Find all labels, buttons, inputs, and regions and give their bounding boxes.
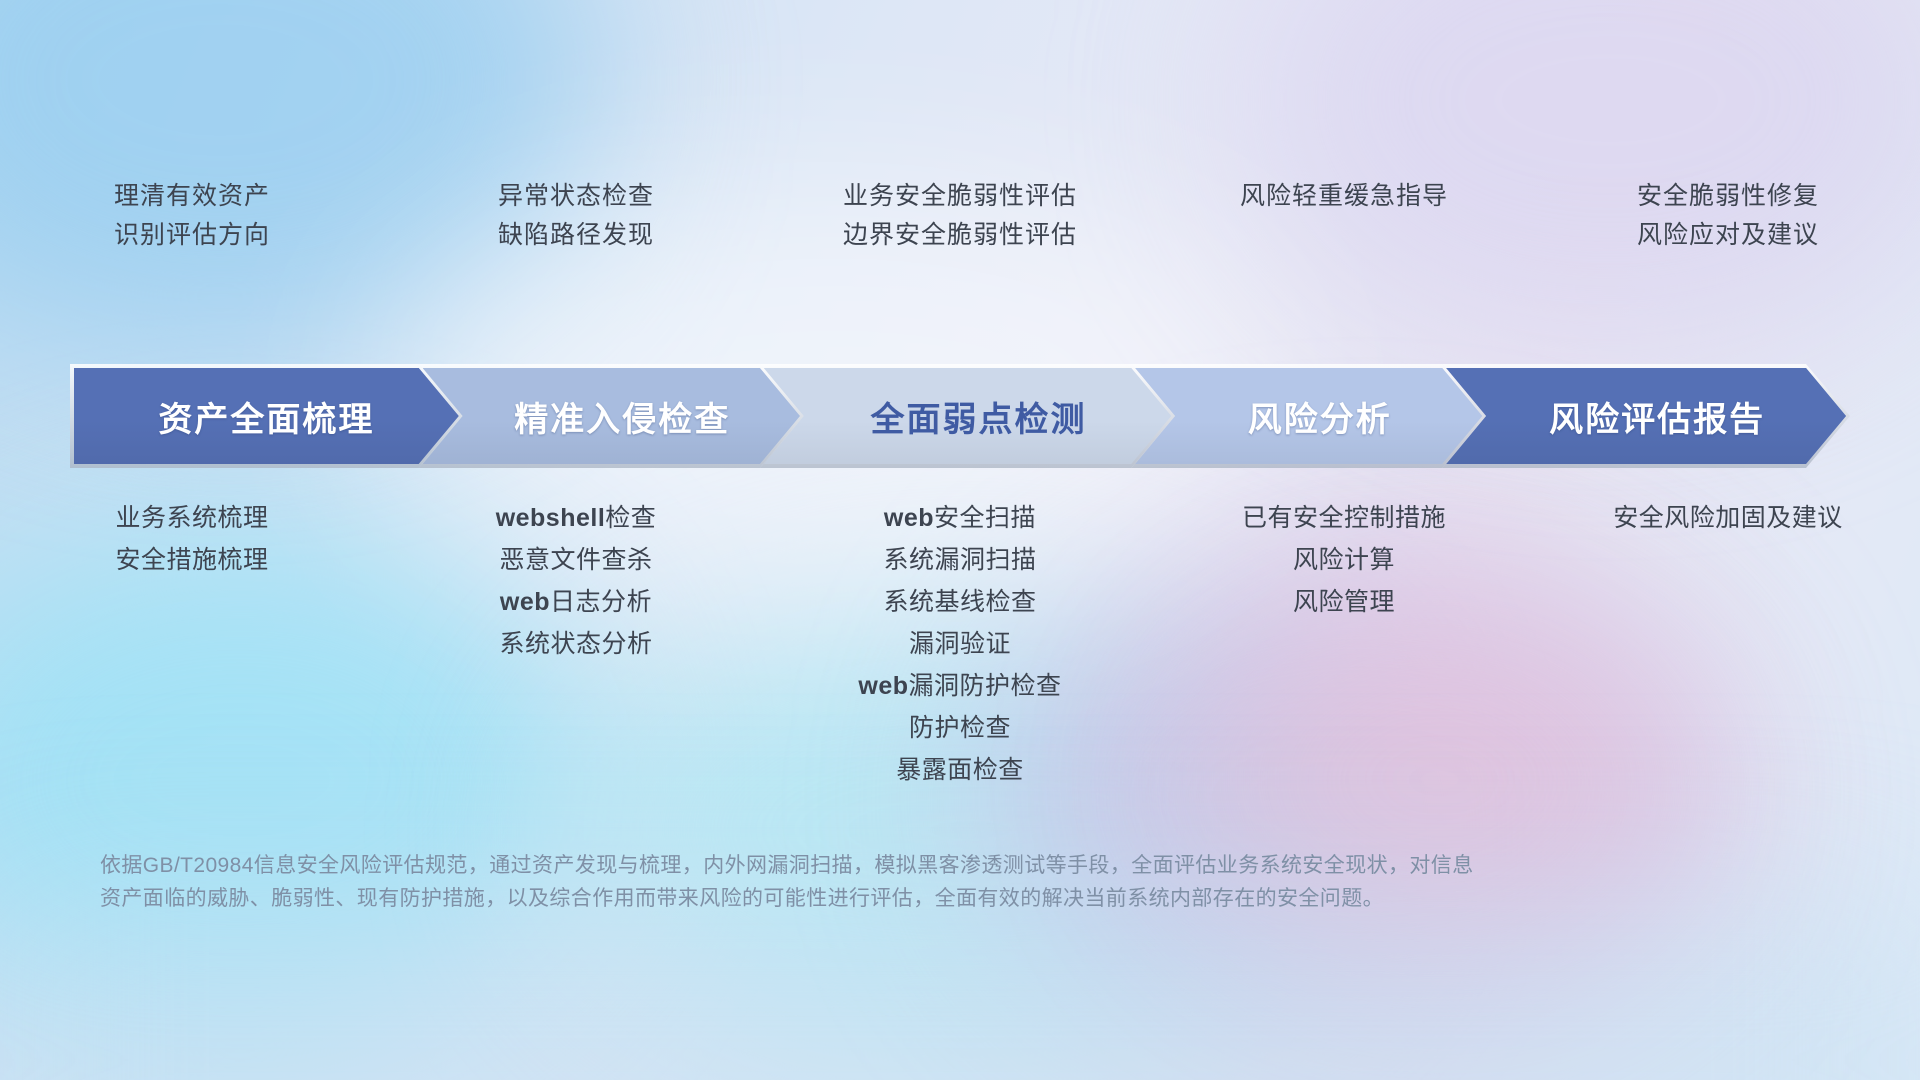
chevron-stage-1[interactable]: 资产全面梳理 xyxy=(74,368,459,464)
footer-description: 依据GB/T20984信息安全风险评估规范，通过资产发现与梳理，内外网漏洞扫描，… xyxy=(100,850,1820,915)
top-labels-stage-5: 安全脆弱性修复 风险应对及建议 xyxy=(1536,184,1920,294)
chevron-label: 全面弱点检测 xyxy=(849,392,1087,441)
bottom-list-item: 系统状态分析 xyxy=(499,632,652,657)
bottom-list-stage-3: web安全扫描系统漏洞扫描系统基线检查漏洞验证web漏洞防护检查防护检查暴露面检… xyxy=(768,506,1152,806)
bottom-list-item: web漏洞防护检查 xyxy=(858,674,1061,699)
top-label: 安全脆弱性修复 xyxy=(1637,184,1819,209)
bottom-list-item: 安全风险加固及建议 xyxy=(1613,506,1843,531)
top-label: 异常状态检查 xyxy=(498,184,654,209)
chevron-label: 风险评估报告 xyxy=(1527,392,1765,441)
bottom-list-stage-2: webshell检查恶意文件查杀web日志分析系统状态分析 xyxy=(384,506,768,806)
bottom-list-item: 防护检查 xyxy=(909,716,1011,741)
bottom-list-item: web日志分析 xyxy=(500,590,652,615)
footer-line-1: 依据GB/T20984信息安全风险评估规范，通过资产发现与梳理，内外网漏洞扫描，… xyxy=(100,850,1820,883)
top-labels-stage-1: 理清有效资产 识别评估方向 xyxy=(0,184,384,294)
bottom-list-item: 风险计算 xyxy=(1293,548,1395,573)
bottom-list-item: 已有安全控制措施 xyxy=(1242,506,1446,531)
top-label: 业务安全脆弱性评估 xyxy=(843,184,1077,209)
bottom-list-item: 系统漏洞扫描 xyxy=(883,548,1036,573)
top-label: 缺陷路径发现 xyxy=(498,223,654,248)
bottom-list-item: web安全扫描 xyxy=(884,506,1036,531)
bottom-list-item: 暴露面检查 xyxy=(896,758,1024,783)
bottom-list-stage-5: 安全风险加固及建议 xyxy=(1536,506,1920,806)
top-label: 风险应对及建议 xyxy=(1637,223,1819,248)
chevron-label: 精准入侵检查 xyxy=(492,392,730,441)
process-diagram: 理清有效资产 识别评估方向 异常状态检查 缺陷路径发现 业务安全脆弱性评估 边界… xyxy=(0,0,1920,1080)
bottom-list-item: 安全措施梳理 xyxy=(115,548,268,573)
bottom-list-item: 业务系统梳理 xyxy=(115,506,268,531)
bottom-list-item: 风险管理 xyxy=(1293,590,1395,615)
chevron-stage-4[interactable]: 风险分析 xyxy=(1135,368,1482,464)
chevron-stage-2[interactable]: 精准入侵检查 xyxy=(423,368,800,464)
bottom-list-item: 系统基线检查 xyxy=(883,590,1036,615)
bottom-list-item: 漏洞验证 xyxy=(909,632,1011,657)
chevron-stage-3[interactable]: 全面弱点检测 xyxy=(764,368,1171,464)
chevron-label: 风险分析 xyxy=(1226,392,1392,441)
chevron-stage-5[interactable]: 风险评估报告 xyxy=(1446,368,1846,464)
bottom-list-item: webshell检查 xyxy=(496,506,657,531)
bottom-lists-row: 业务系统梳理安全措施梳理 webshell检查恶意文件查杀web日志分析系统状态… xyxy=(0,506,1920,806)
top-label: 理清有效资产 xyxy=(114,184,270,209)
chevron-label: 资产全面梳理 xyxy=(158,392,374,441)
top-labels-stage-4: 风险轻重缓急指导 xyxy=(1152,184,1536,294)
top-labels-stage-2: 异常状态检查 缺陷路径发现 xyxy=(384,184,768,294)
footer-line-2: 资产面临的威胁、脆弱性、现有防护措施，以及综合作用而带来风险的可能性进行评估，全… xyxy=(100,883,1820,916)
bottom-list-item: 恶意文件查杀 xyxy=(499,548,652,573)
top-labels-stage-3: 业务安全脆弱性评估 边界安全脆弱性评估 xyxy=(768,184,1152,294)
top-label: 边界安全脆弱性评估 xyxy=(843,223,1077,248)
top-label: 识别评估方向 xyxy=(114,223,270,248)
chevron-band: 资产全面梳理 精准入侵检查 全面弱点检测 风险分析 风险评估报告 xyxy=(74,368,1846,464)
top-labels-row: 理清有效资产 识别评估方向 异常状态检查 缺陷路径发现 业务安全脆弱性评估 边界… xyxy=(0,184,1920,294)
bottom-list-stage-4: 已有安全控制措施风险计算风险管理 xyxy=(1152,506,1536,806)
bottom-list-stage-1: 业务系统梳理安全措施梳理 xyxy=(0,506,384,806)
top-label: 风险轻重缓急指导 xyxy=(1240,184,1448,209)
